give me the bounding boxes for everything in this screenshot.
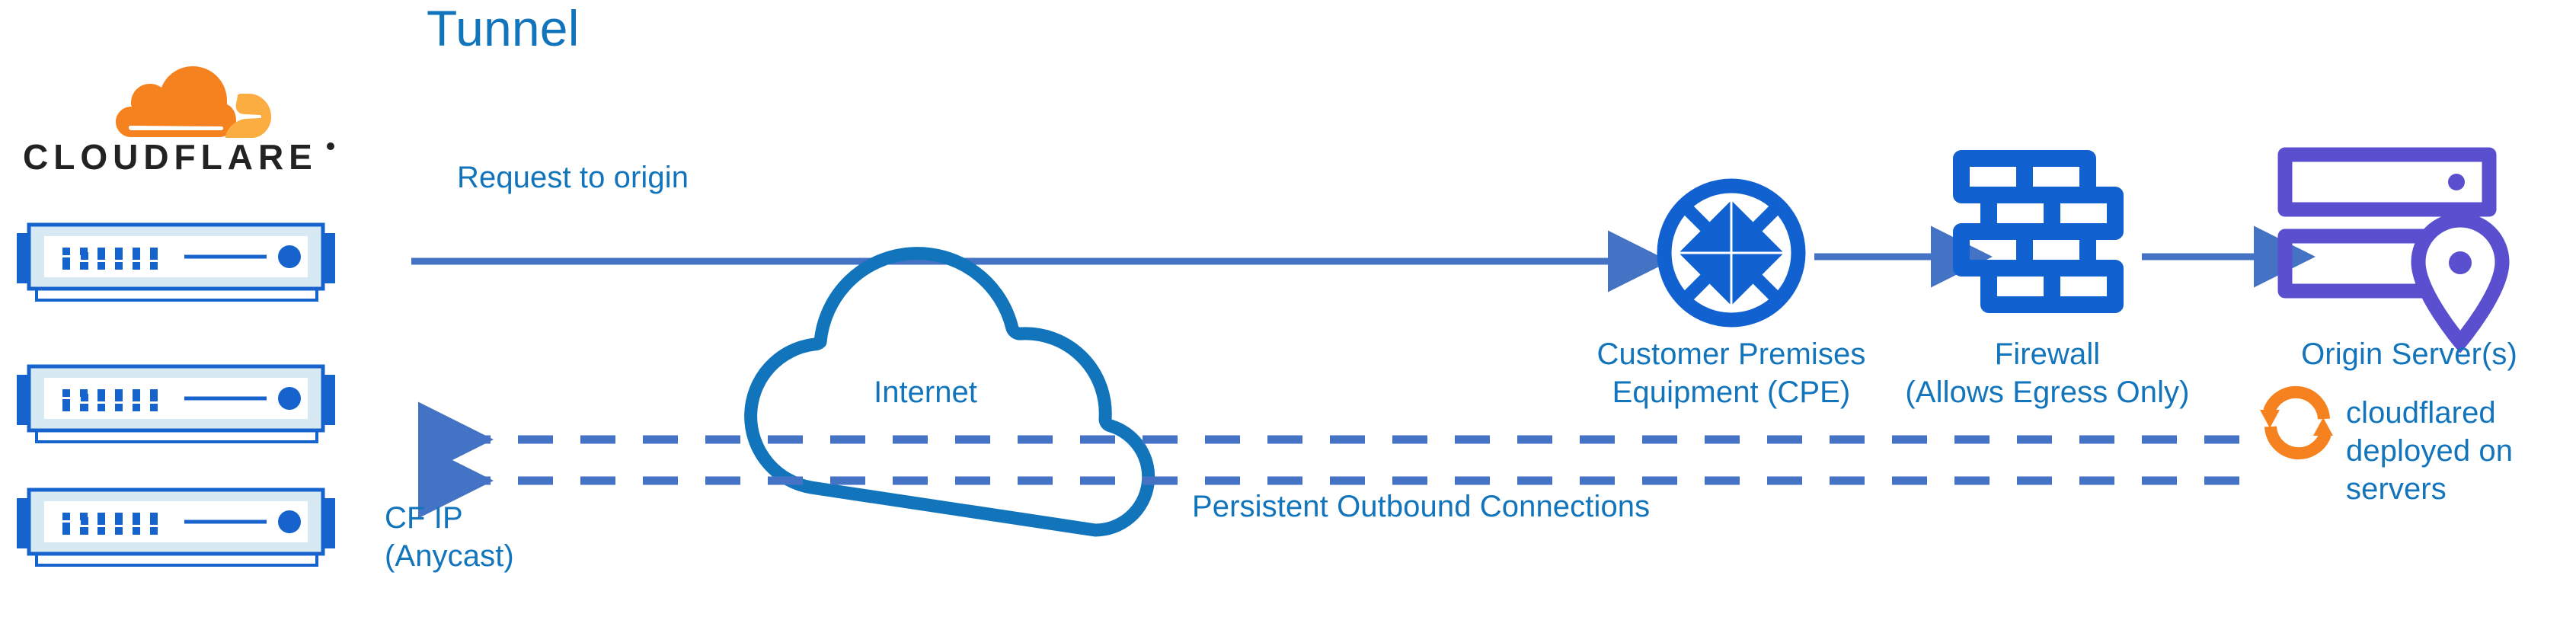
request-to-origin-label: Request to origin	[457, 158, 689, 197]
cloudflared-label: cloudflared deployed on servers	[2346, 394, 2574, 508]
brick-wall-icon	[1961, 158, 2115, 305]
persistent-outbound-connections-label: Persistent Outbound Connections	[1192, 488, 1650, 526]
rack-server-icon	[17, 490, 335, 565]
location-pin-icon	[2418, 220, 2502, 342]
cf-ip-anycast-label: CF IP (Anycast)	[385, 499, 514, 575]
rack-server-icon	[17, 366, 335, 442]
sync-arrows-icon	[2260, 392, 2333, 453]
server-led-icon	[2448, 174, 2465, 190]
firewall-label: Firewall (Allows Egress Only)	[1865, 335, 2230, 411]
origin-server-label: Origin Server(s)	[2245, 335, 2573, 373]
rack-server-icon	[17, 225, 335, 300]
cpe-label: Customer Premises Equipment (CPE)	[1548, 335, 1914, 411]
internet-label: Internet	[874, 376, 977, 409]
router-converging-arrows-icon	[1664, 186, 1798, 320]
tunnel-diagram-canvas: Tunnel CLOUDFLARE	[0, 0, 2576, 617]
